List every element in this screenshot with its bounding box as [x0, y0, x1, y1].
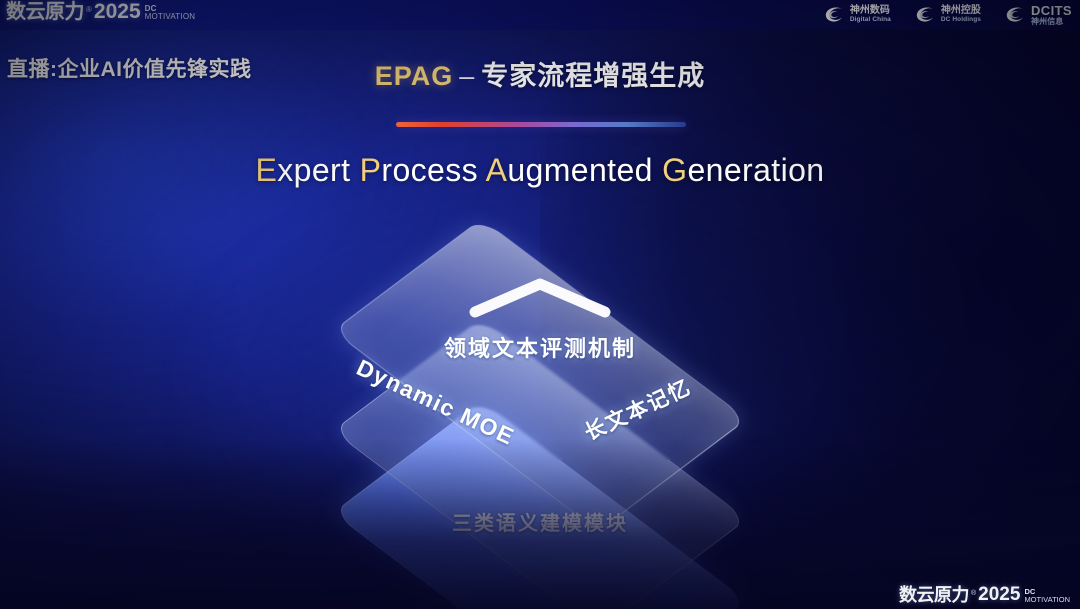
swoosh-icon	[913, 3, 937, 27]
brand-name-en: 神州信息	[1031, 18, 1072, 26]
brand-name-en: Digital China	[850, 17, 891, 24]
event-logo-cjk: 数云原力	[6, 2, 84, 22]
subtitle-rest-augmented: ugmented	[507, 152, 653, 188]
subtitle-rest-process: rocess	[381, 152, 478, 188]
footer-watermark-logo: 数云原力 ® 2025 DC MOTIVATION	[899, 585, 1070, 604]
brand-dc-holdings: 神州控股 DC Holdings	[913, 3, 981, 27]
swoosh-icon	[1003, 3, 1027, 27]
slide-canvas: 数云原力 ® 2025 DC MOTIVATION 直播:企业AI价值先锋实践 …	[0, 0, 1080, 609]
watermark-registered: ®	[971, 590, 976, 597]
layer-top-label: 领域文本评测机制	[444, 331, 636, 363]
event-logo-year: 2025	[94, 1, 141, 22]
event-logo-tagline: DC MOTIVATION	[145, 5, 196, 21]
subtitle-cap-e: E	[255, 152, 277, 188]
brand-name-en: DC Holdings	[941, 17, 981, 24]
registered-mark: ®	[86, 6, 92, 14]
event-logo: 数云原力 ® 2025 DC MOTIVATION	[6, 1, 195, 22]
title-acronym: EPAG	[375, 61, 454, 91]
subtitle-cap-a: A	[486, 152, 508, 188]
brand-dcits-text: DCITS 神州信息	[1031, 4, 1072, 26]
brand-dc-holdings-text: 神州控股 DC Holdings	[941, 6, 981, 23]
brand-digital-china-text: 神州数码 Digital China	[850, 6, 891, 23]
slide-subtitle: Expert Process Augmented Generation	[0, 152, 1080, 189]
title-chinese: 专家流程增强生成	[481, 61, 705, 91]
event-logo-motivation: MOTIVATION	[145, 13, 196, 21]
title-dash: –	[453, 61, 481, 91]
brand-digital-china: 神州数码 Digital China	[822, 3, 891, 27]
watermark-cjk: 数云原力	[899, 586, 969, 604]
subtitle-cap-g: G	[662, 152, 687, 188]
watermark-tagline: DC MOTIVATION	[1024, 588, 1070, 603]
swoosh-icon	[822, 3, 846, 27]
brand-dcits: DCITS 神州信息	[1003, 3, 1072, 27]
layer-bottom-label: 三类语义建模模块	[452, 507, 628, 536]
watermark-motivation: MOTIVATION	[1024, 596, 1070, 604]
chevron-up-icon	[465, 272, 615, 322]
watermark-year: 2025	[978, 585, 1020, 604]
sponsor-logo-bar: 神州数码 Digital China 神州控股 DC Holdings DCIT…	[822, 3, 1072, 27]
brand-name-cn: DCITS	[1031, 4, 1072, 18]
subtitle-rest-expert: xpert	[277, 152, 350, 188]
layer-stack-diagram: 领域文本评测机制 Dynamic MOE 长文本记忆 三类语义建模模块	[280, 232, 800, 562]
subtitle-cap-p: P	[360, 152, 382, 188]
slide-title: EPAG–专家流程增强生成	[0, 54, 1080, 93]
subtitle-rest-generation: eneration	[687, 152, 824, 188]
accent-divider	[396, 122, 686, 127]
